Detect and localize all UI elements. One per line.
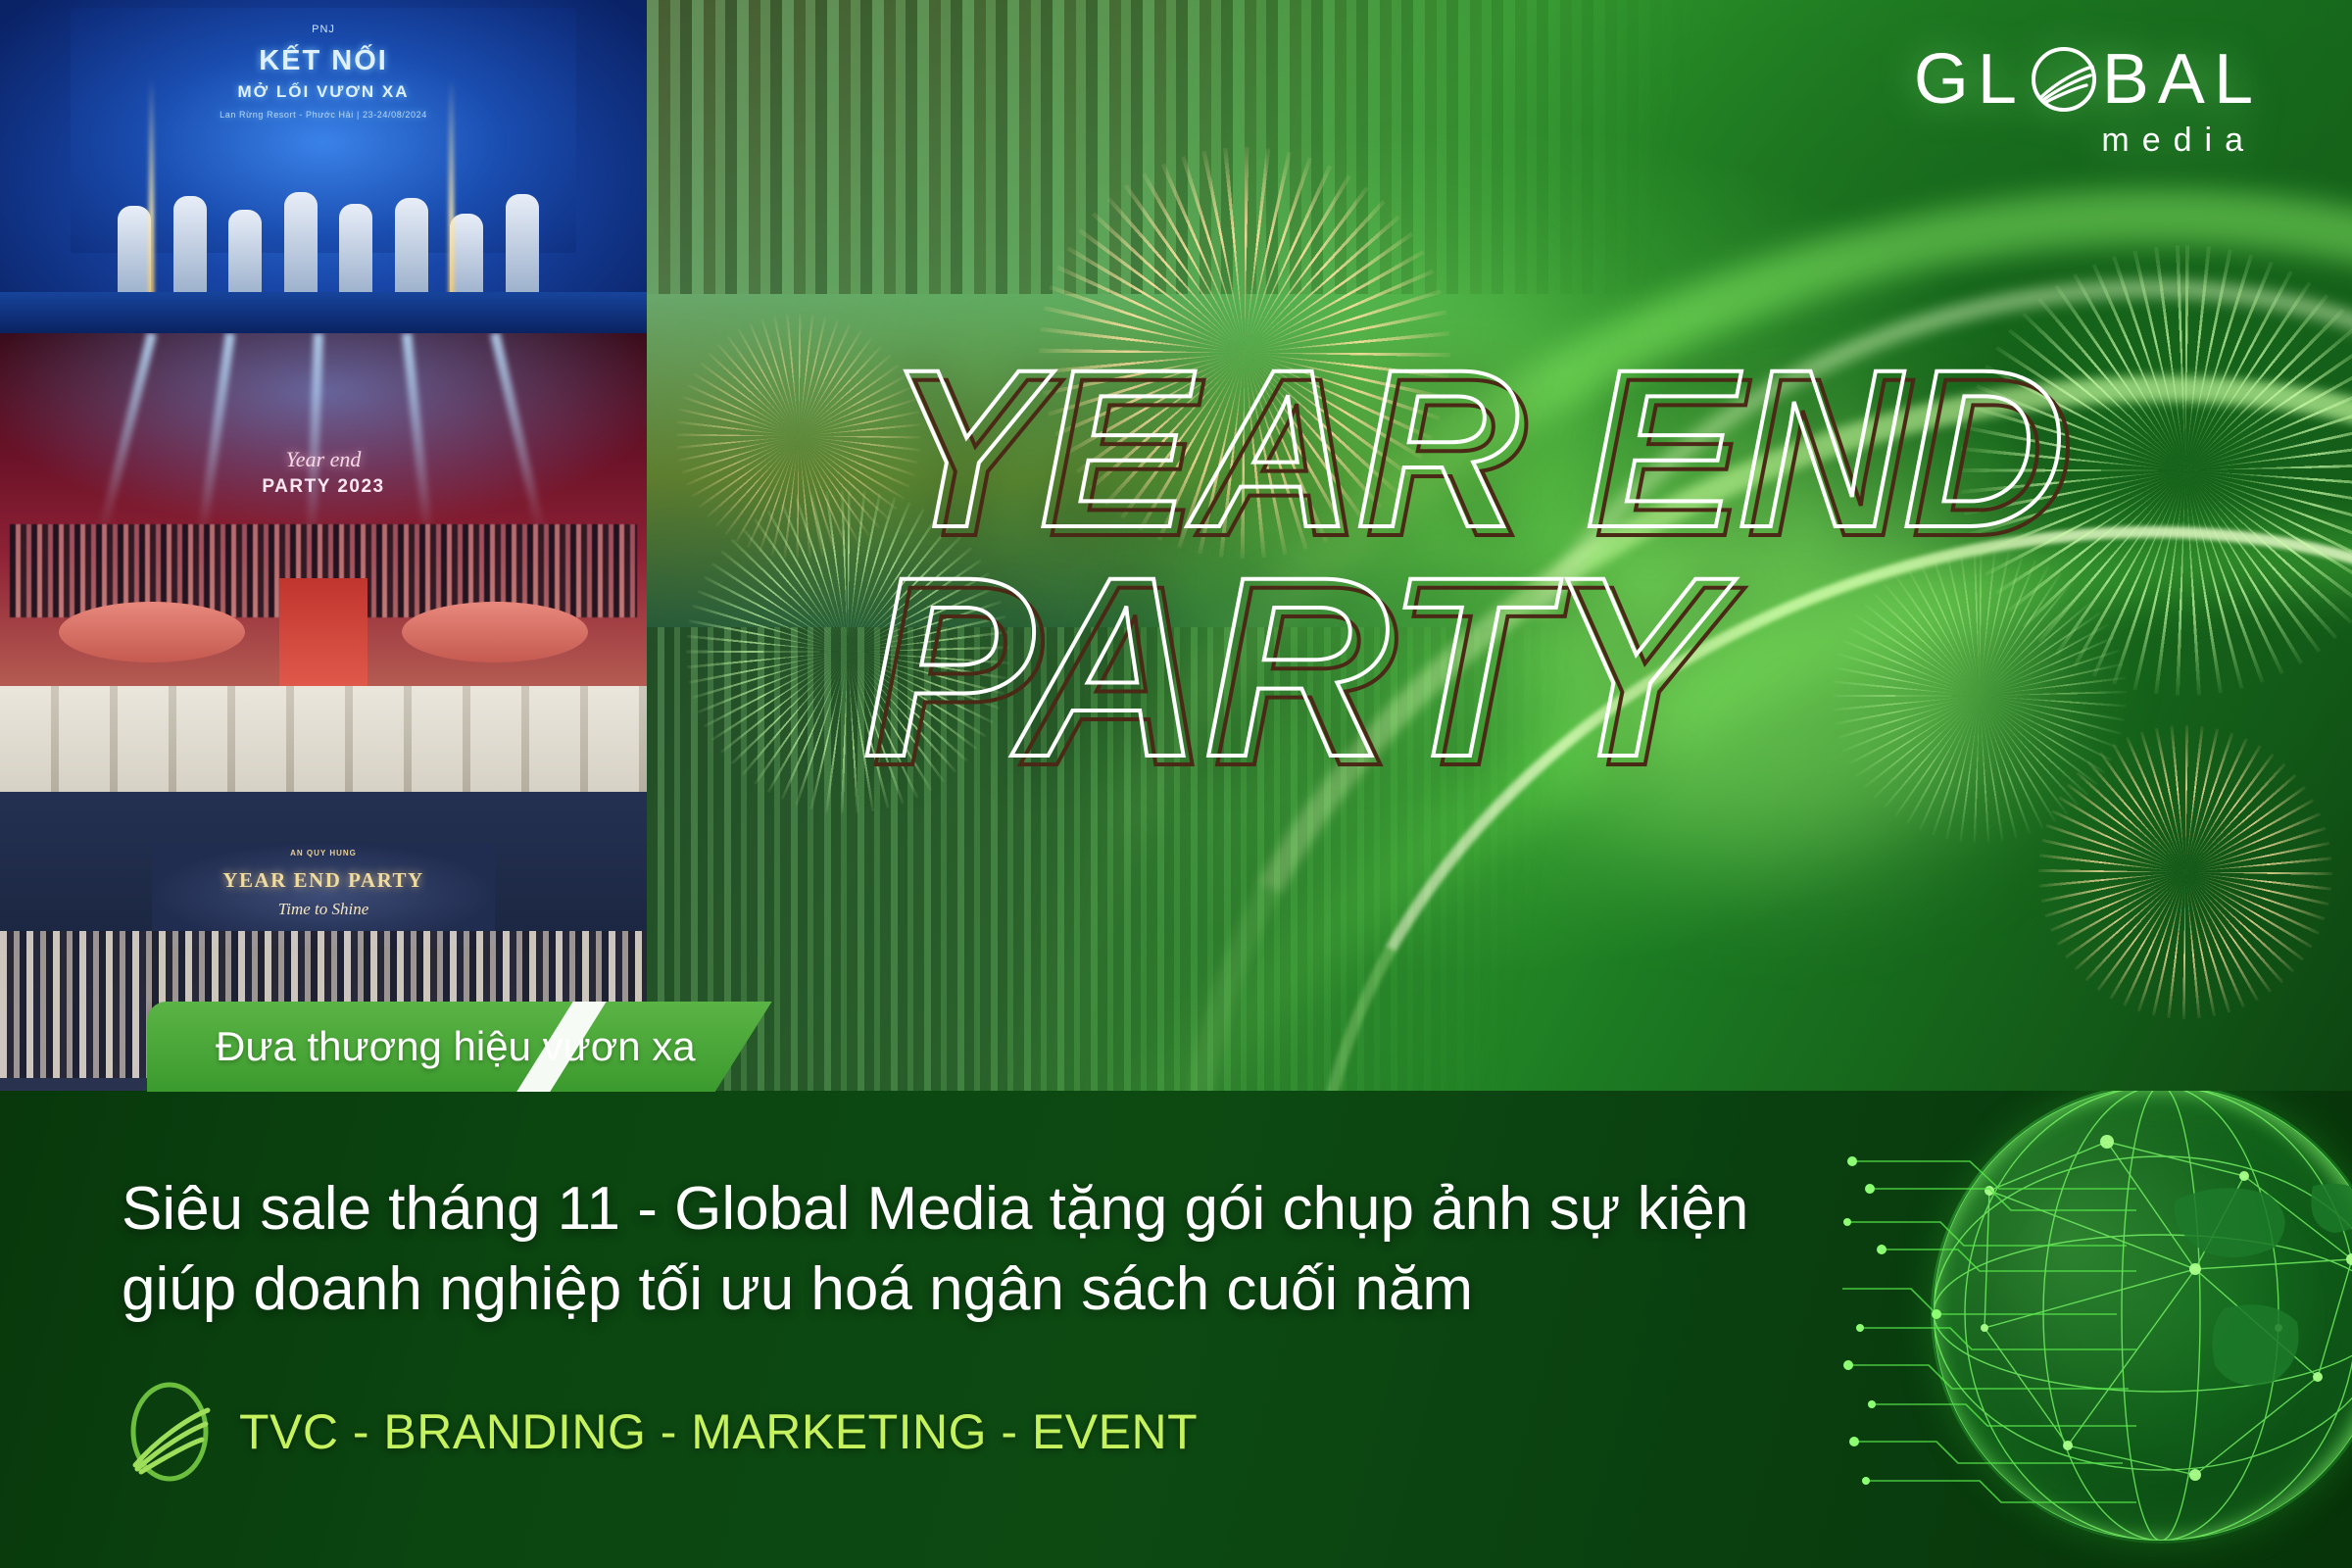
- leaf-swoosh-icon: [2028, 43, 2100, 116]
- leaf-swoosh-icon: [122, 1379, 218, 1485]
- promo-line-2: giúp doanh nghiệp tối ưu hoá ngân sách c…: [122, 1249, 1748, 1330]
- smartland-title-line2: PARTY 2023: [162, 476, 485, 498]
- brand-logo: GL BAL media: [1914, 43, 2262, 160]
- footer-services: TVC - BRANDING - MARKETING - EVENT: [122, 1379, 1198, 1485]
- promo-line-1: Siêu sale tháng 11 - Global Media tặng g…: [122, 1169, 1748, 1249]
- pnj-logo: PNJ: [312, 24, 335, 35]
- collage-photo-pnj: PNJ KẾT NỐI MỞ LỐI VƯƠN XA Lan Rừng Reso…: [0, 0, 647, 333]
- aqh-title-line1: YEAR END PARTY: [152, 868, 495, 893]
- aqh-title-line2: Time to Shine: [152, 900, 495, 919]
- aqh-logo: AN QUY HUNG: [290, 849, 357, 857]
- hero-section: PNJ KẾT NỐI MỞ LỐI VƯƠN XA Lan Rừng Reso…: [0, 0, 2352, 1093]
- collage-photo-smartland: Year end PARTY 2023: [0, 333, 647, 686]
- promo-headline: Siêu sale tháng 11 - Global Media tặng g…: [122, 1169, 1748, 1330]
- brand-tagline-ribbon: Đưa thương hiệu vươn xa: [147, 1002, 772, 1092]
- photo-collage: PNJ KẾT NỐI MỞ LỐI VƯƠN XA Lan Rừng Reso…: [0, 0, 647, 1093]
- circuit-traces-icon: [1842, 1132, 2166, 1524]
- network-globe-icon: [1842, 1091, 2352, 1568]
- services-text: TVC - BRANDING - MARKETING - EVENT: [239, 1403, 1198, 1460]
- brand-wordmark: GL BAL: [1914, 43, 2262, 116]
- promotional-poster: PNJ KẾT NỐI MỞ LỐI VƯƠN XA Lan Rừng Reso…: [0, 0, 2352, 1568]
- smartland-title-line1: Year end: [162, 447, 485, 472]
- promo-band: Siêu sale tháng 11 - Global Media tặng g…: [0, 1091, 2352, 1568]
- pnj-venue: Lan Rừng Resort - Phước Hải | 23-24/08/2…: [71, 110, 576, 120]
- headline-line-1: YEAR END: [887, 345, 2068, 553]
- brand-subtitle: media: [1914, 122, 2256, 160]
- pnj-title-line2: MỞ LỐI VƯƠN XA: [71, 82, 576, 102]
- pnj-title-line1: KẾT NỐI: [71, 45, 576, 77]
- headline-line-2: PARTY: [862, 549, 1719, 785]
- brand-tagline-text: Đưa thương hiệu vươn xa: [216, 1023, 696, 1070]
